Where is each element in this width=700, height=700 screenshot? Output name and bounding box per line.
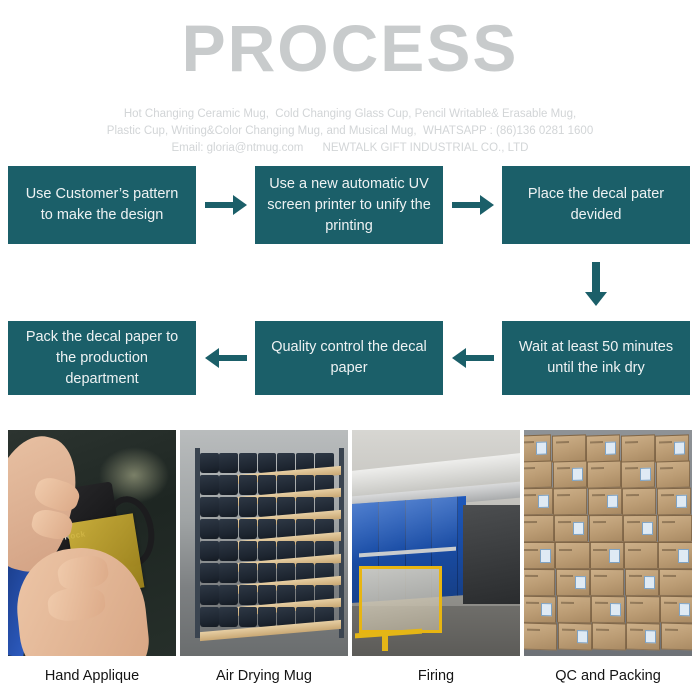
arrow-down-icon [570, 258, 622, 310]
photo-cell-firing: Firing [352, 430, 520, 685]
flow-step-1-label: Use Customer’s pattern to make the desig… [18, 184, 186, 226]
photo-cell-qc-packing: QC and Packing [524, 430, 692, 685]
flow-step-3-label: Place the decal pater devided [512, 184, 680, 226]
flow-step-3: Place the decal pater devided [502, 166, 690, 244]
arrow-left-icon [200, 341, 252, 375]
flow-step-2: Use a new automatic UV screen printer to… [255, 166, 443, 244]
process-flow-diagram: Use Customer’s pattern to make the desig… [0, 0, 700, 420]
photo-caption: QC and Packing [524, 667, 692, 685]
flow-step-6-label: Pack the decal paper to the production d… [18, 327, 186, 390]
flow-step-5: Quality control the decal paper [255, 321, 443, 395]
photo-caption: Firing [352, 667, 520, 685]
photo-caption: Air Drying Mug [180, 667, 348, 685]
flow-step-4-label: Wait at least 50 minutes until the ink d… [512, 337, 680, 379]
photo-caption: Hand Applique [8, 667, 176, 685]
flow-step-2-label: Use a new automatic UV screen printer to… [265, 174, 433, 237]
photo-gallery: ASRock Hand Applique Air Drying Mug [0, 430, 700, 700]
flow-step-1: Use Customer’s pattern to make the desig… [8, 166, 196, 244]
flow-step-4: Wait at least 50 minutes until the ink d… [502, 321, 690, 395]
photo-hand-applique: ASRock [8, 430, 176, 656]
photo-qc-and-packing [524, 430, 692, 656]
photo-cell-air-drying-mug: Air Drying Mug [180, 430, 348, 685]
arrow-right-icon [200, 188, 252, 222]
photo-air-drying-mug [180, 430, 348, 656]
photo-cell-hand-applique: ASRock Hand Applique [8, 430, 176, 685]
flow-step-6: Pack the decal paper to the production d… [8, 321, 196, 395]
photo-firing [352, 430, 520, 656]
arrow-left-icon [447, 341, 499, 375]
arrow-right-icon [447, 188, 499, 222]
flow-step-5-label: Quality control the decal paper [265, 337, 433, 379]
